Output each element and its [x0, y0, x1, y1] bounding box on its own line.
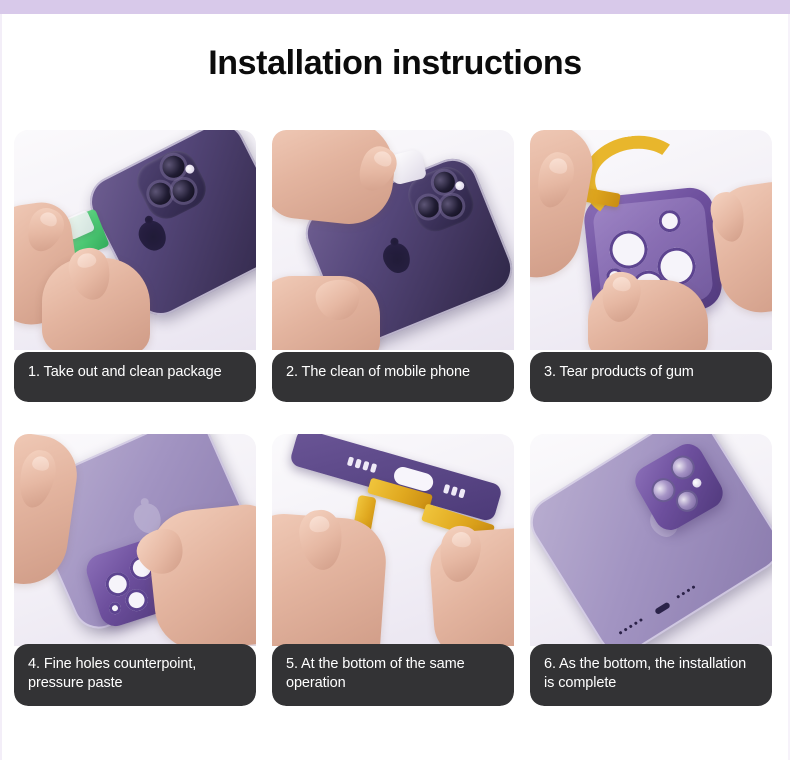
step-card-3[interactable]: 3. Tear products of gum	[530, 130, 772, 402]
camera-lens	[431, 169, 458, 196]
left-page-edge	[0, 14, 2, 760]
fingernail	[31, 455, 51, 472]
camera-lens	[438, 193, 465, 220]
camera-flash	[184, 163, 196, 175]
scene-installation-complete	[530, 434, 772, 646]
fingernail	[39, 210, 60, 228]
scene-tear-products-of-gum	[530, 130, 772, 350]
fingernail	[612, 276, 632, 292]
step-caption-1: 1. Take out and clean package	[14, 352, 256, 402]
fingernail	[372, 148, 394, 168]
sensor-hole	[107, 601, 122, 616]
installation-steps-grid: 1. Take out and clean package	[14, 130, 776, 706]
camera-lens	[415, 193, 442, 220]
top-lavender-band	[0, 0, 790, 14]
camera-flash	[454, 180, 466, 192]
step-caption-2: 2. The clean of mobile phone	[272, 352, 514, 402]
page-title: Installation instructions	[0, 44, 790, 83]
step-photo-4	[14, 434, 256, 646]
step-photo-6	[530, 434, 772, 646]
camera-lens	[169, 176, 199, 206]
camera-lens	[145, 179, 175, 209]
scene-bottom-same-operation	[272, 434, 514, 646]
protected-lens	[672, 486, 702, 516]
fingernail	[309, 515, 331, 533]
rail-dot-group	[443, 484, 466, 498]
step-photo-3	[530, 130, 772, 350]
step-card-2[interactable]: 2. The clean of mobile phone	[272, 130, 514, 402]
fingernail	[548, 156, 569, 175]
camera-flash	[691, 477, 703, 489]
fingernail	[76, 252, 97, 270]
step-caption-4: 4. Fine holes counterpoint, pressure pas…	[14, 644, 256, 706]
scene-fine-holes-counterpoint	[14, 434, 256, 646]
step-photo-5	[272, 434, 514, 646]
step-card-4[interactable]: 4. Fine holes counterpoint, pressure pas…	[14, 434, 256, 706]
camera-lens	[159, 152, 189, 182]
step-caption-5: 5. At the bottom of the same operation	[272, 644, 514, 706]
step-photo-2	[272, 130, 514, 350]
scene-take-out-and-clean-package	[14, 130, 256, 350]
step-caption-3: 3. Tear products of gum	[530, 352, 772, 402]
step-card-5[interactable]: 5. At the bottom of the same operation	[272, 434, 514, 706]
step-caption-6: 6. As the bottom, the installation is co…	[530, 644, 772, 706]
fingernail	[451, 531, 472, 548]
step-photo-1	[14, 130, 256, 350]
scene-clean-of-mobile-phone	[272, 130, 514, 350]
step-card-1[interactable]: 1. Take out and clean package	[14, 130, 256, 402]
rail-dot-group	[347, 456, 377, 473]
step-card-6[interactable]: 6. As the bottom, the installation is co…	[530, 434, 772, 706]
